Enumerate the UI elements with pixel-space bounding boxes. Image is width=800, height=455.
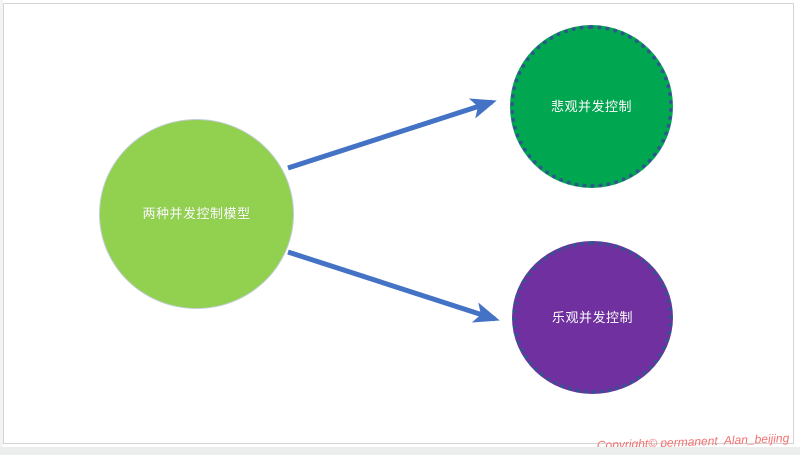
diagram-canvas: 两种并发控制模型 悲观并发控制 乐观并发控制 Copyright© perman… bbox=[0, 0, 800, 455]
canvas-bottom-strip bbox=[0, 447, 800, 455]
node-optimistic-label: 乐观并发控制 bbox=[552, 310, 633, 326]
node-root-label: 两种并发控制模型 bbox=[142, 206, 250, 222]
node-pessimistic-label: 悲观并发控制 bbox=[551, 99, 632, 115]
node-pessimistic-concurrency-control[interactable]: 悲观并发控制 bbox=[510, 25, 673, 188]
node-root-two-concurrency-models[interactable]: 两种并发控制模型 bbox=[99, 119, 294, 309]
node-optimistic-concurrency-control[interactable]: 乐观并发控制 bbox=[512, 241, 673, 394]
